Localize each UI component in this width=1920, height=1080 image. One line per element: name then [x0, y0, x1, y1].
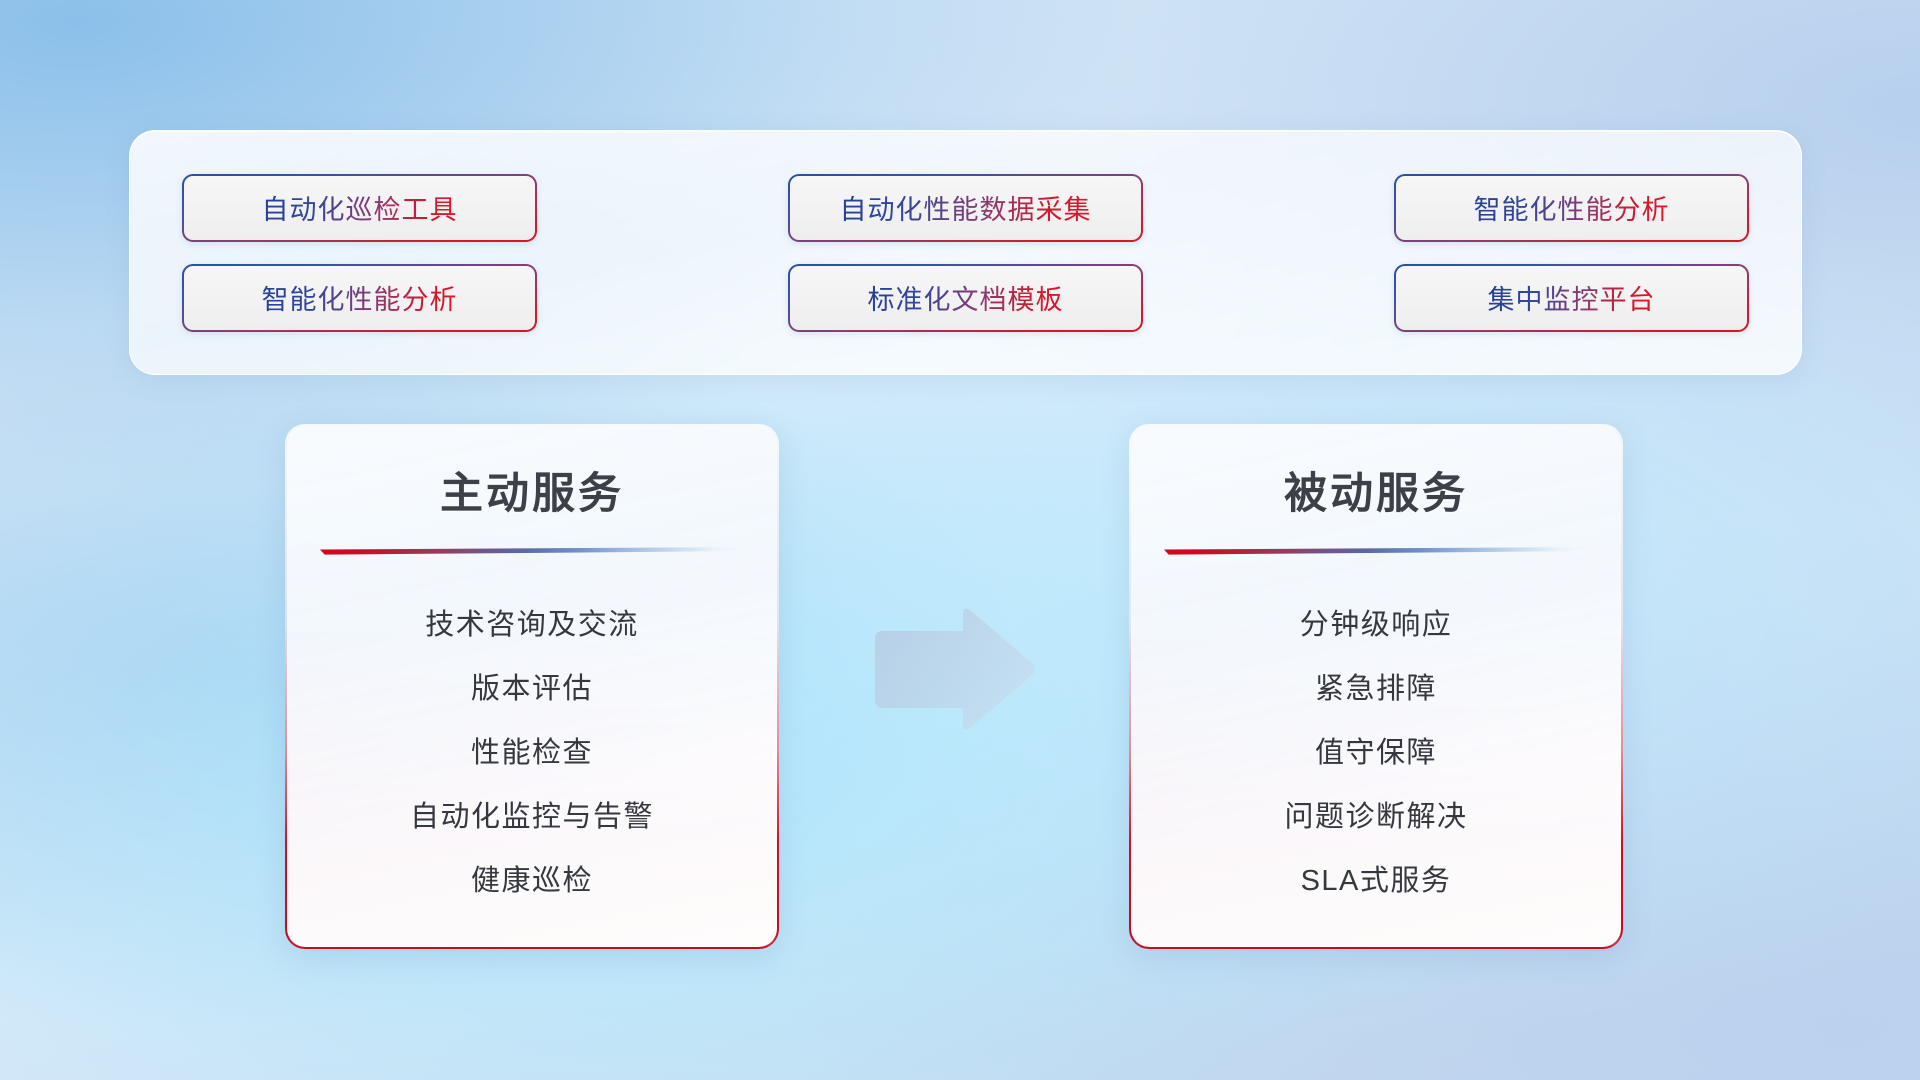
capability-pill-1[interactable]: 自动化巡检工具 [182, 174, 537, 242]
title-divider [320, 546, 744, 555]
capability-pill-6-label: 集中监控平台 [1488, 278, 1656, 317]
list-item: 技术咨询及交流 [425, 601, 639, 643]
service-card-reactive[interactable]: 被动服务 分钟级响应 紧急排障 值守保障 问题诊断解决 SLA式服务 [1129, 424, 1623, 949]
service-card-proactive[interactable]: 主动服务 技术咨询及交流 版本评估 性能检查 自动化监控与告警 健康巡检 [285, 424, 779, 949]
service-card-reactive-title: 被动服务 [1284, 459, 1468, 521]
list-item: 分钟级响应 [1300, 601, 1453, 643]
capability-row-1: 自动化巡检工具 自动化性能数据采集 智能化性能分析 [182, 174, 1749, 242]
capability-pill-3-body: 智能化性能分析 [1396, 176, 1747, 240]
list-item: 自动化监控与告警 [410, 793, 654, 835]
capability-pill-4-label: 智能化性能分析 [262, 278, 458, 317]
capability-pill-2[interactable]: 自动化性能数据采集 [788, 174, 1143, 242]
capability-pill-3[interactable]: 智能化性能分析 [1394, 174, 1749, 242]
list-item: 问题诊断解决 [1284, 793, 1467, 835]
service-card-proactive-list: 技术咨询及交流 版本评估 性能检查 自动化监控与告警 健康巡检 [287, 573, 778, 948]
capability-row-2: 智能化性能分析 标准化文档模板 集中监控平台 [182, 264, 1749, 332]
list-item: 版本评估 [471, 665, 593, 707]
capability-panel: 自动化巡检工具 自动化性能数据采集 智能化性能分析 智能化性能分析 [129, 130, 1802, 375]
capability-pill-6[interactable]: 集中监控平台 [1394, 264, 1749, 332]
capability-pill-4-body: 智能化性能分析 [184, 266, 535, 330]
capability-pill-1-label: 自动化巡检工具 [262, 188, 458, 227]
capability-pill-4[interactable]: 智能化性能分析 [182, 264, 537, 332]
title-divider [1164, 546, 1588, 555]
capability-pill-1-body: 自动化巡检工具 [184, 176, 535, 240]
capability-pill-2-body: 自动化性能数据采集 [790, 176, 1141, 240]
list-item: 性能检查 [471, 729, 593, 771]
capability-pill-5-label: 标准化文档模板 [868, 278, 1064, 317]
list-item: 紧急排障 [1315, 665, 1437, 707]
capability-pill-5[interactable]: 标准化文档模板 [788, 264, 1143, 332]
list-item: 健康巡检 [471, 857, 593, 899]
service-card-proactive-title: 主动服务 [440, 459, 624, 521]
capability-pill-5-body: 标准化文档模板 [790, 266, 1141, 330]
list-item: SLA式服务 [1301, 857, 1452, 899]
service-card-proactive-body: 主动服务 技术咨询及交流 版本评估 性能检查 自动化监控与告警 健康巡检 [287, 426, 778, 948]
capability-pill-3-label: 智能化性能分析 [1474, 188, 1670, 227]
service-card-reactive-body: 被动服务 分钟级响应 紧急排障 值守保障 问题诊断解决 SLA式服务 [1131, 426, 1622, 948]
list-item: 值守保障 [1315, 729, 1437, 771]
capability-pill-6-body: 集中监控平台 [1396, 266, 1747, 330]
service-card-reactive-list: 分钟级响应 紧急排障 值守保障 问题诊断解决 SLA式服务 [1131, 573, 1622, 948]
capability-pill-2-label: 自动化性能数据采集 [840, 188, 1092, 227]
slide-canvas: 自动化巡检工具 自动化性能数据采集 智能化性能分析 智能化性能分析 [0, 0, 1920, 1080]
arrow-right-icon [871, 605, 1038, 735]
